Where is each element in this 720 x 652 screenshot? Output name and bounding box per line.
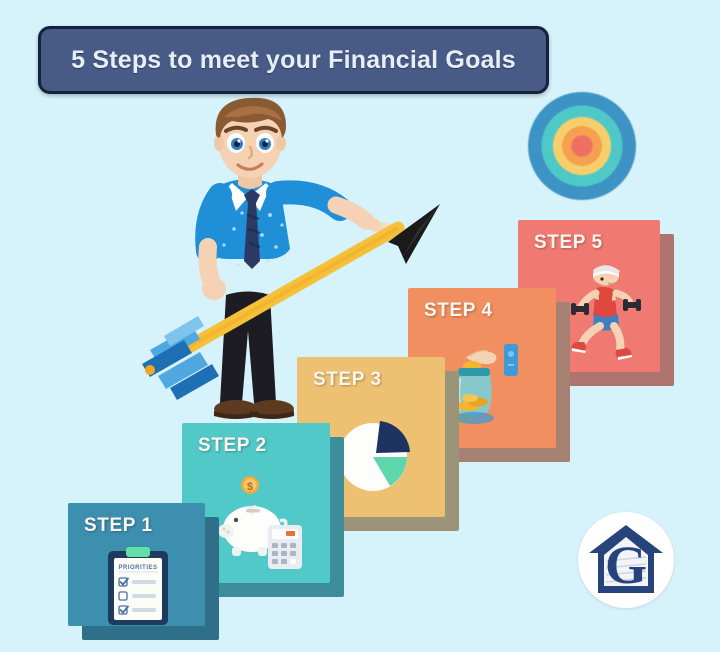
golden-arrow <box>140 190 470 405</box>
bullseye-target-icon <box>528 92 636 200</box>
title-banner: 5 Steps to meet your Financial Goals <box>38 26 549 94</box>
piggy-bank-calculator-icon: $ <box>210 473 314 577</box>
step-card-1[interactable]: STEP 1 PRIORITIES <box>68 503 205 626</box>
page-title: 5 Steps to meet your Financial Goals <box>71 46 516 75</box>
house-g-logo-mark: G <box>586 521 666 599</box>
logo-letter: G <box>605 535 647 595</box>
step-card-5-label: STEP 5 <box>534 232 603 254</box>
step-card-2-label: STEP 2 <box>198 435 267 457</box>
house-g-logo[interactable]: G <box>578 512 674 608</box>
infographic-canvas: 5 Steps to meet your Financial Goals STE… <box>0 0 720 652</box>
clipboard-caption: PRIORITIES <box>118 565 157 571</box>
svg-text:$: $ <box>247 481 253 493</box>
step-card-1-label: STEP 1 <box>84 515 153 537</box>
clipboard-checklist-icon: PRIORITIES <box>104 545 172 627</box>
